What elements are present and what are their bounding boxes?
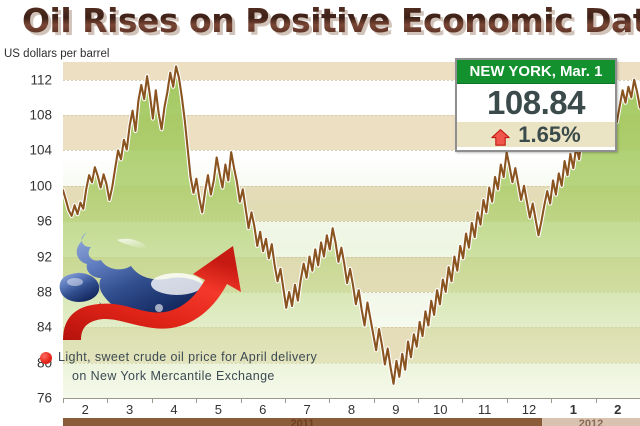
oil-blob-shape	[60, 273, 100, 302]
y-axis-label: 104	[29, 143, 52, 158]
x-axis-tick	[462, 398, 463, 403]
x-axis: 2345678910111212	[0, 398, 640, 418]
year-bar: 20112012	[63, 418, 640, 426]
y-axis-title: US dollars per barrel	[4, 48, 109, 60]
x-axis-tick	[241, 398, 242, 403]
page-title: Oil Rises on Positive Economic Dat	[22, 1, 640, 41]
title-bar: Oil Rises on Positive Economic Dat Oil R…	[0, 0, 640, 44]
x-axis-label: 10	[433, 402, 447, 417]
x-axis-tick	[596, 398, 597, 403]
x-axis-tick	[196, 398, 197, 403]
x-axis-tick	[107, 398, 108, 403]
x-axis-label: 11	[478, 402, 492, 417]
x-axis-label: 12	[522, 402, 536, 417]
x-axis-tick	[329, 398, 330, 403]
infographic-root: Oil Rises on Positive Economic Dat Oil R…	[0, 0, 640, 426]
price-quote-box: NEW YORK, Mar. 1 108.84 1.65%	[455, 58, 617, 152]
x-axis-tick	[551, 398, 552, 403]
legend-line-1: Light, sweet crude oil price for April d…	[58, 348, 370, 367]
red-dot-icon	[40, 352, 52, 364]
x-axis-label: 2	[82, 402, 89, 417]
quote-price: 108.84	[457, 84, 615, 122]
y-axis-label: 108	[29, 108, 52, 123]
up-arrow-icon	[491, 126, 510, 143]
oil-spill-arrow-graphic	[55, 222, 280, 350]
x-axis-label: 4	[170, 402, 177, 417]
y-axis-label: 92	[37, 249, 52, 264]
oil-highlight	[117, 239, 149, 250]
quote-change-value: 1.65%	[518, 122, 580, 148]
quote-header: NEW YORK, Mar. 1	[457, 60, 615, 84]
quote-market: NEW YORK,	[470, 63, 556, 80]
x-axis-label: 9	[392, 402, 399, 417]
y-axis-label: 112	[30, 72, 52, 87]
y-axis-label: 88	[37, 284, 52, 299]
x-axis-tick	[507, 398, 508, 403]
x-axis-label: 2	[614, 402, 621, 417]
y-axis-label: 84	[37, 320, 52, 335]
legend-line-2: on New York Mercantile Exchange	[72, 367, 370, 386]
y-axis-label: 96	[37, 214, 52, 229]
quote-date: Mar. 1	[560, 63, 603, 80]
oil-highlight-3	[67, 278, 83, 286]
x-axis-tick	[374, 398, 375, 403]
oil-highlight-2	[151, 273, 203, 295]
x-axis-tick	[285, 398, 286, 403]
quote-change-row: 1.65%	[457, 122, 615, 147]
oil-highlight-4	[155, 304, 163, 312]
x-axis-label: 7	[303, 402, 310, 417]
x-axis-tick	[152, 398, 153, 403]
year-label: 2011	[291, 419, 315, 426]
x-axis-label: 5	[215, 402, 222, 417]
x-axis-tick	[418, 398, 419, 403]
x-axis-tick	[63, 398, 64, 403]
chart-legend: Light, sweet crude oil price for April d…	[40, 348, 370, 386]
x-axis-label: 3	[126, 402, 133, 417]
y-axis-label: 100	[29, 178, 52, 193]
x-axis-label: 1	[570, 402, 577, 417]
x-axis-label: 8	[348, 402, 355, 417]
year-label: 2012	[579, 419, 603, 426]
x-axis-label: 6	[259, 402, 266, 417]
